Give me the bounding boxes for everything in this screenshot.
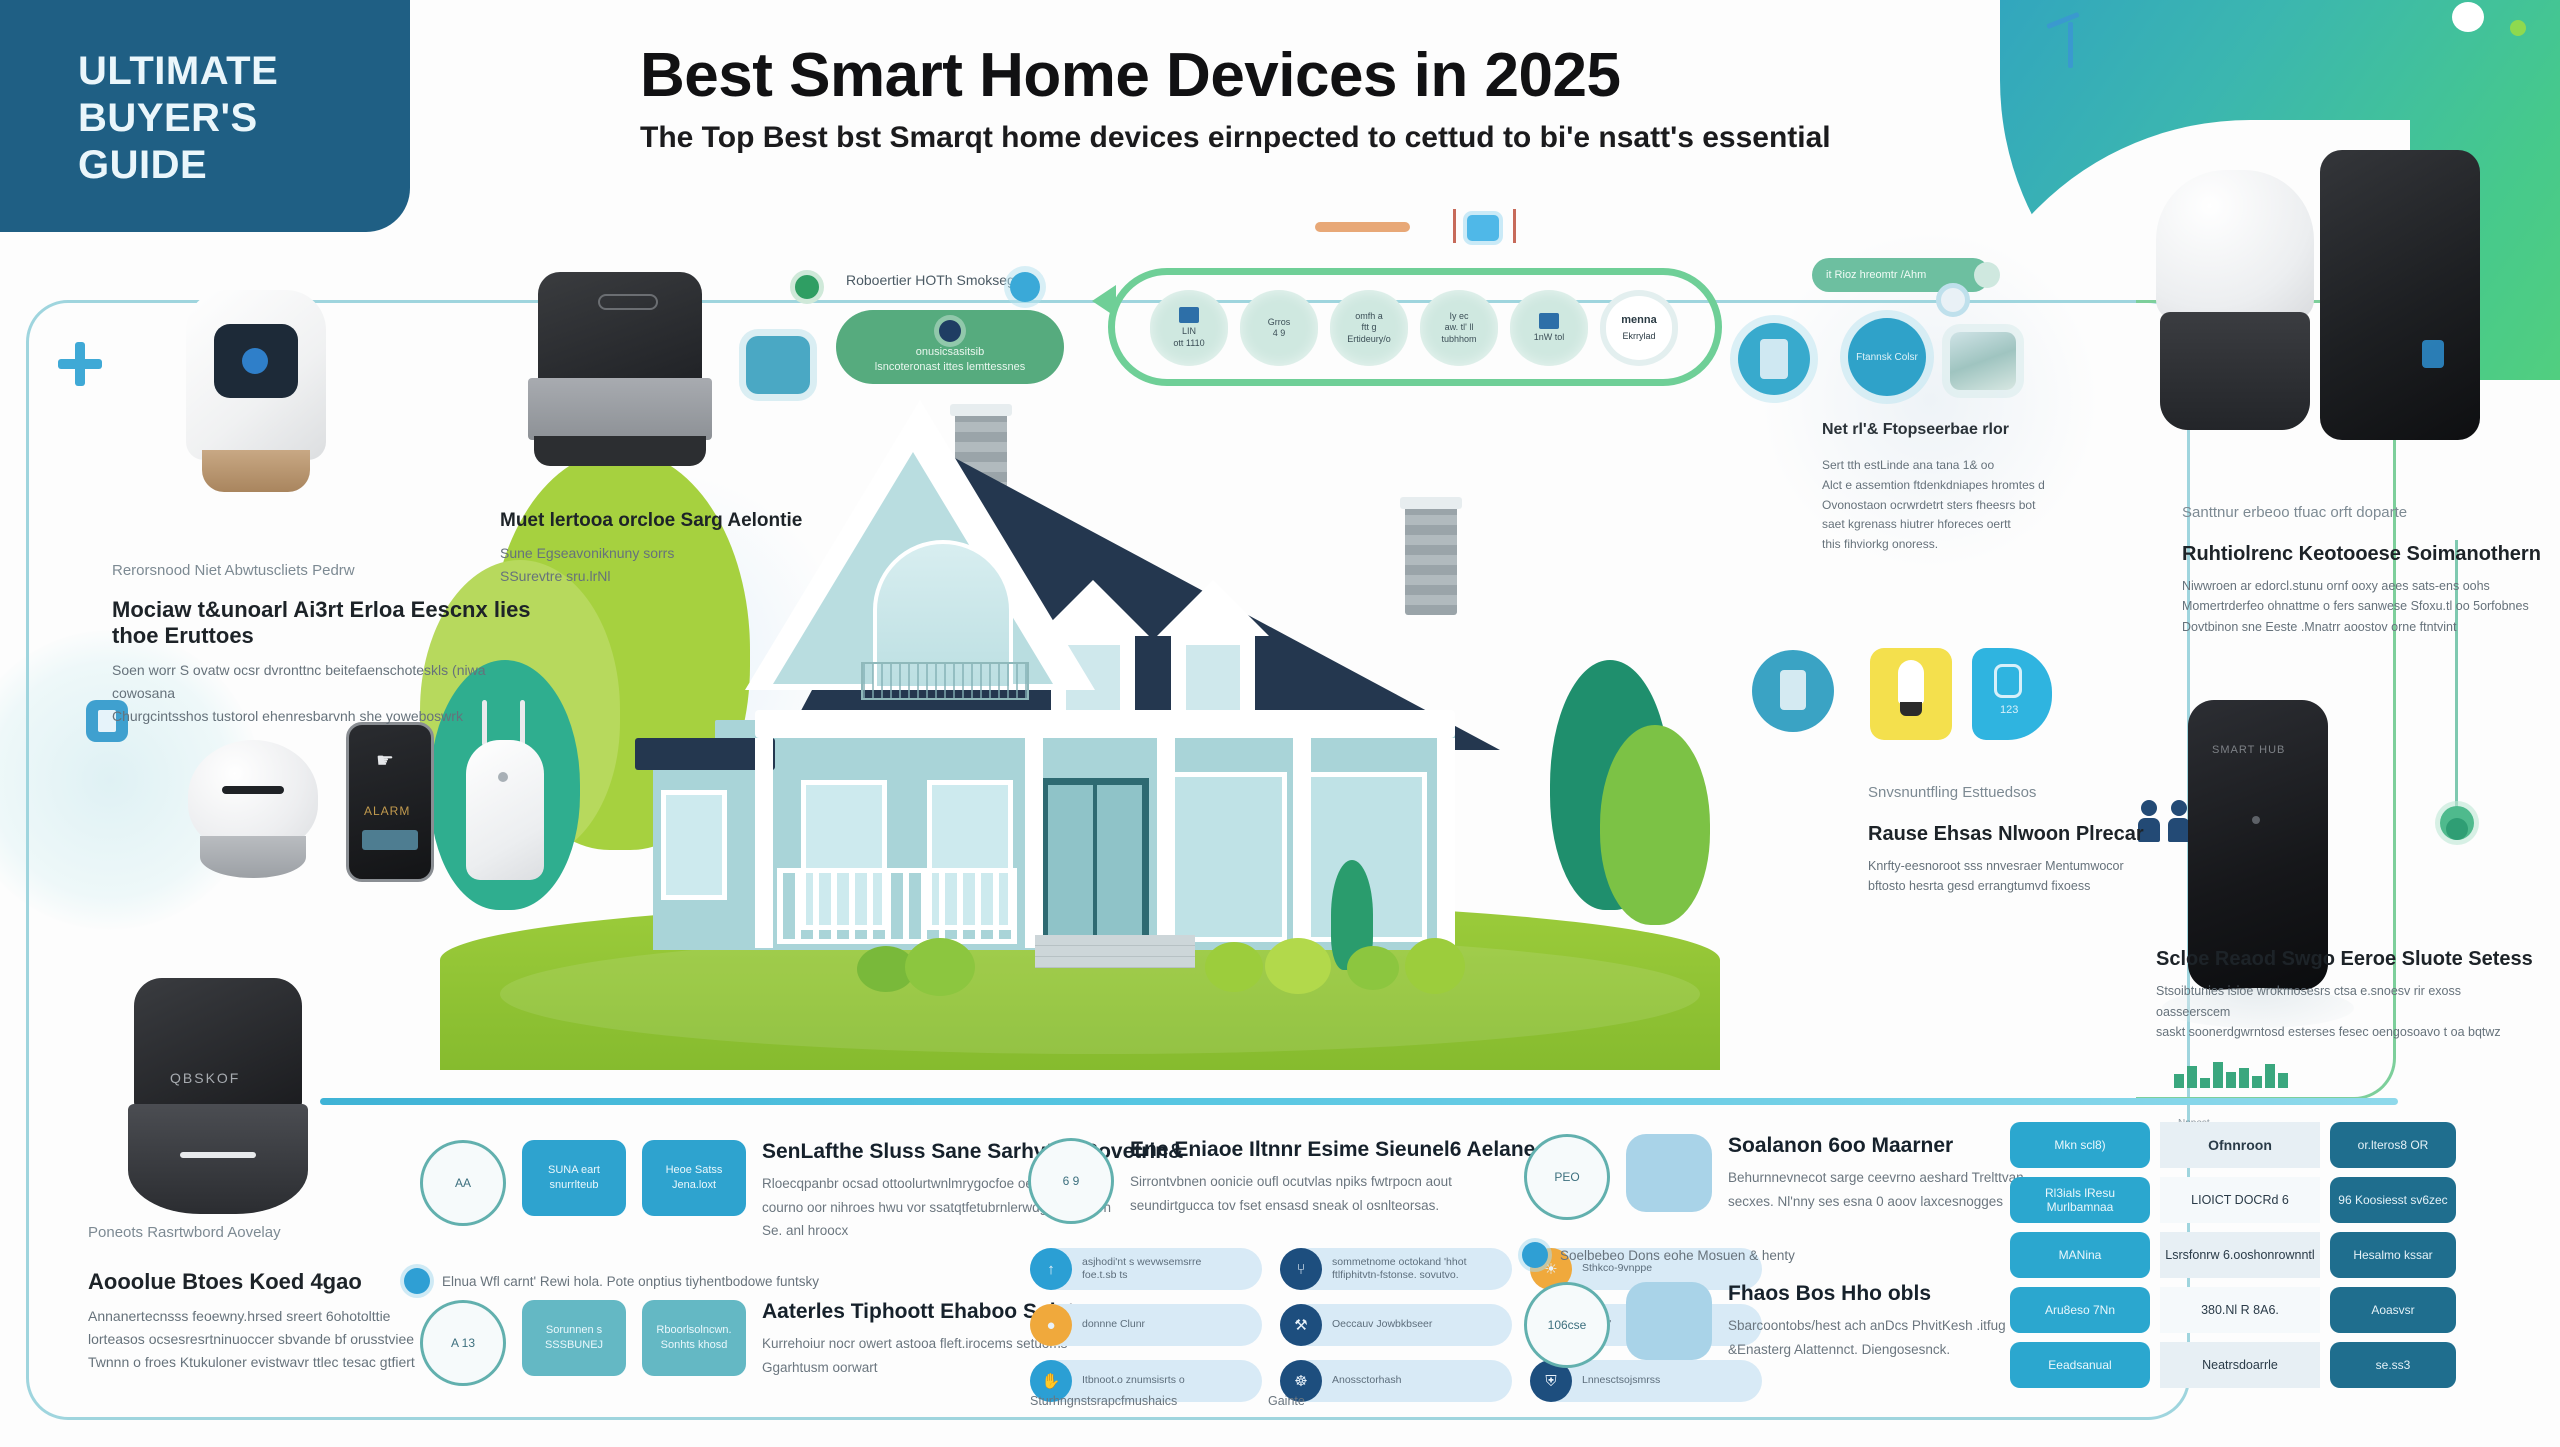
page-subtitle: The Top Best bst Smarqt home devices eir… xyxy=(640,121,1940,155)
comparison-table: Mkn scl8) Ofnnroon or.lteros8 OR Rl3ials… xyxy=(2010,1122,2456,1397)
decorative-green-dot xyxy=(2510,20,2526,36)
block-heading: Mociaw t&unoarl Ai3rt Erloa Eescnx lies … xyxy=(112,597,532,649)
feature-row: 6 9 Ene Eniaoe Iltnnr Esime Sieunel6 Ael… xyxy=(1028,1138,1548,1224)
feature-illustration-tile[interactable] xyxy=(1626,1282,1712,1360)
table-cell-left: Rl3ials lResu Murlbamnaa xyxy=(2010,1177,2150,1223)
window xyxy=(661,790,727,900)
icon-label: sommetnome octokand 'hhot ftlfiphitvtn-f… xyxy=(1332,1256,1467,1282)
smart-bulb-icon[interactable] xyxy=(1870,648,1952,740)
feature-tile[interactable]: Sorunnen s SSSBUNEJ xyxy=(522,1300,626,1376)
porch-railing xyxy=(777,868,1017,944)
porch-column xyxy=(1025,738,1043,948)
porch-glass xyxy=(1165,772,1287,942)
feature-text: Fhaos Bos Hho obls Sbarcoontobs/hest ach… xyxy=(1728,1282,2006,1361)
bush xyxy=(1205,942,1263,992)
pill-tail-icon xyxy=(1974,262,2000,288)
front-door xyxy=(1041,778,1149,946)
feature-row: 106cse Fhaos Bos Hho obls Sbarcoontobs/h… xyxy=(1524,1282,2024,1368)
antenna-icon: ⑂ xyxy=(1280,1248,1322,1290)
icon-grid-item[interactable]: ⑂ sommetnome octokand 'hhot ftlfiphitvtn… xyxy=(1280,1248,1512,1290)
block-body: Stsoibtunies isioe wrokmosesrs ctsa e.sn… xyxy=(2156,981,2536,1043)
scene-thumbnail xyxy=(1950,332,2016,390)
chimney-icon xyxy=(1405,505,1457,615)
badge-line-2: BUYER'S xyxy=(78,95,410,142)
block-body: Sune Egseavoniknuny sorrs SSurevtre sru.… xyxy=(500,542,830,588)
feature-body: Behurnnevnecot sarge ceevrno aeshard Tre… xyxy=(1728,1166,2024,1213)
skyline-ornament xyxy=(2174,1062,2288,1088)
table-cell-left: MANina xyxy=(2010,1232,2150,1278)
block-heading: Scloe Reaod Swgo Eeroe Sluote Setess xyxy=(2156,948,2536,971)
grid-caption-left: Sturhngnstsrapcfmushaics xyxy=(1030,1394,1177,1408)
product-security-camera xyxy=(176,290,336,505)
icon-grid-item[interactable]: ● donnne Clunr xyxy=(1030,1304,1262,1346)
wing-roof xyxy=(635,738,775,770)
table-cell-right: 96 Koosiesst sv6zec xyxy=(2330,1177,2456,1223)
product-control-panel: ☛ALARM xyxy=(346,722,434,882)
block-body: Knrfty-eesnoroot sss nnvesraer Mentumwoc… xyxy=(1868,856,2228,897)
home-security-label: Roboertier HOTh Smokseg xyxy=(846,272,1015,288)
note-line: Soelbebeo Dons eohe Mosuen & henty xyxy=(1522,1242,1795,1268)
table-cell-right: Aoasvsr xyxy=(2330,1287,2456,1333)
table-cell-middle: 380.Nl R 8A6. xyxy=(2160,1287,2320,1333)
text-block-right-4: Scloe Reaod Swgo Eeroe Sluote Setess Sts… xyxy=(2156,948,2536,1043)
table-cell-middle: Neatrsdoarrle xyxy=(2160,1342,2320,1388)
text-block-left-1: Rerorsnood Niet Abwtuscliets Pedrw Mocia… xyxy=(112,560,532,728)
panel-icon xyxy=(1179,307,1199,323)
tools-icon: ⚒ xyxy=(1280,1304,1322,1346)
product-smart-speaker-bottom: QBSKOF xyxy=(118,978,318,1223)
table-cell-left: Mkn scl8) xyxy=(2010,1122,2150,1168)
text-block-right-2: Santtnur erbeoo tfuac orft doparte Ruhti… xyxy=(2182,502,2542,637)
note-text: Elnua Wfl carnt' Rewi hola. Pote onptius… xyxy=(442,1274,819,1289)
icon-label: donnne Clunr xyxy=(1082,1318,1145,1331)
icon-label: Itbnoot.o znumsisrts o xyxy=(1082,1374,1185,1387)
header-titles: Best Smart Home Devices in 2025 The Top … xyxy=(640,40,1940,155)
feature-badge-icon: A 13 xyxy=(420,1300,506,1386)
block-heading: Muet lertooa orcloe Sarg Aelontie xyxy=(500,510,830,532)
table-row: Aru8eso 7Nn 380.Nl R 8A6. Aoasvsr xyxy=(2010,1287,2456,1333)
text-block-left-2: Muet lertooa orcloe Sarg Aelontie Sune E… xyxy=(500,510,830,588)
note-text: Soelbebeo Dons eohe Mosuen & henty xyxy=(1560,1248,1795,1263)
feature-heading: Fhaos Bos Hho obls xyxy=(1728,1282,2006,1306)
grid-caption-right: Gainte xyxy=(1268,1394,1305,1408)
porch-roof xyxy=(755,710,1455,738)
bullet-icon xyxy=(404,1268,430,1294)
block-heading: Rause Ehsas Nlwoon Plrecar xyxy=(1868,823,2228,846)
wifi-dot-icon xyxy=(1010,272,1040,302)
thermostat-icon: ↑ xyxy=(1030,1248,1072,1290)
text-block-right-1: Net rl'& Ftopseerbae rlor Sert tth estLi… xyxy=(1822,418,2152,555)
eyebrow-text: Snvsnuntfling Esttuedsos xyxy=(1868,782,2228,805)
feature-illustration-tile[interactable] xyxy=(1626,1134,1712,1212)
feature-row: A 13 Sorunnen s SSSBUNEJ Rboorlsolncwn. … xyxy=(420,1300,980,1386)
table-row: Rl3ials lResu Murlbamnaa LIOICT DOCRd 6 … xyxy=(2010,1177,2456,1223)
table-cell-right: se.ss3 xyxy=(2330,1342,2456,1388)
panel-icon xyxy=(1539,313,1559,329)
feature-tile[interactable]: SUNA eart snurrlteub xyxy=(522,1140,626,1216)
feature-badge-icon: 106cse xyxy=(1524,1282,1610,1368)
table-cell-middle: Ofnnroon xyxy=(2160,1122,2320,1168)
porch-column xyxy=(1293,738,1311,948)
table-cell-right: Hesalmo kssar xyxy=(2330,1232,2456,1278)
icon-label: Lnnesctsojsmrss xyxy=(1582,1374,1660,1387)
eyebrow-text: Rerorsnood Niet Abwtuscliets Pedrw xyxy=(112,560,532,583)
icon-label: Anossctorhash xyxy=(1332,1374,1401,1387)
product-smart-globe-speaker xyxy=(188,740,318,880)
bush xyxy=(905,938,975,996)
icon-label: Oeccauv Jowbkbseer xyxy=(1332,1318,1432,1331)
dormer-window xyxy=(1157,580,1269,720)
feature-heading: Soalanon 6oo Maarner xyxy=(1728,1134,2024,1158)
icon-grid-item[interactable]: ⚒ Oeccauv Jowbkbseer xyxy=(1280,1304,1512,1346)
feature-tile[interactable]: Heoe Satss Jena.loxt xyxy=(642,1140,746,1216)
bush xyxy=(1265,938,1331,994)
table-cell-left: Aru8eso 7Nn xyxy=(2010,1287,2150,1333)
feature-row: AA SUNA eart snurrlteub Heoe Satss Jena.… xyxy=(420,1140,980,1243)
ring-icon xyxy=(1936,283,1970,317)
feature-row: PEO Soalanon 6oo Maarner Behurnnevnecot … xyxy=(1524,1134,2024,1220)
feature-badge-icon: 6 9 xyxy=(1028,1138,1114,1224)
table-cell-middle: Lsrsfonrw 6.ooshonrownntl xyxy=(2160,1232,2320,1278)
leaf-badge-icon xyxy=(790,270,824,304)
ultimate-buyers-guide-badge: ULTIMATE BUYER'S GUIDE xyxy=(0,0,410,232)
loop-arrow-icon xyxy=(1092,285,1116,317)
product-black-speaker xyxy=(520,272,720,482)
feature-tile[interactable]: Rboorlsolncwn. Sonhts khosd xyxy=(642,1300,746,1376)
table-cell-right: or.lteros8 OR xyxy=(2330,1122,2456,1168)
product-smart-assistant-speaker xyxy=(2150,170,2320,440)
badge-line-1: ULTIMATE xyxy=(78,48,410,95)
orange-rule-ornament xyxy=(1315,222,1410,232)
eyebrow-text: Santtnur erbeoo tfuac orft doparte xyxy=(2182,502,2542,525)
porch-column xyxy=(1437,738,1455,948)
porch-column xyxy=(755,738,773,948)
section-divider xyxy=(320,1098,2398,1105)
bullet-icon xyxy=(1522,1242,1548,1268)
house-graphic xyxy=(605,390,1505,950)
entry-steps xyxy=(1035,935,1195,969)
smart-display-icon[interactable] xyxy=(1752,650,1834,732)
block-body: Sert tth estLinde ana tana 1& oo Alct e … xyxy=(1822,456,2152,555)
icon-grid-item[interactable]: ☸ Anossctorhash xyxy=(1280,1360,1512,1402)
page-title: Best Smart Home Devices in 2025 xyxy=(640,40,1940,111)
decorative-white-dot xyxy=(2452,2,2484,32)
block-body: Soen worr S ovatw ocsr dvronttnc beitefa… xyxy=(112,659,532,728)
plus-icon xyxy=(58,342,102,386)
block-heading: Ruhtiolrenc Keotooese Soimanothern xyxy=(2182,543,2542,566)
device-ornament xyxy=(1425,207,1545,247)
connector-node-inner xyxy=(2446,818,2468,840)
infographic-poster: ULTIMATE BUYER'S GUIDE Best Smart Home D… xyxy=(0,0,2560,1447)
badge-line-3: GUIDE xyxy=(78,142,410,189)
table-cell-left: Eeadsanual xyxy=(2010,1342,2150,1388)
smart-lock-icon[interactable]: 123 xyxy=(1972,648,2052,740)
table-row: Mkn scl8) Ofnnroon or.lteros8 OR xyxy=(2010,1122,2456,1168)
feature-badge-icon: PEO xyxy=(1524,1134,1610,1220)
feature-badge-icon: AA xyxy=(420,1140,506,1226)
icon-grid-item[interactable]: ↑ asjhodi'nt s wevwsemsrre foe.t.sb ts xyxy=(1030,1248,1262,1290)
feature-text: Soalanon 6oo Maarner Behurnnevnecot sarg… xyxy=(1728,1134,2024,1213)
balcony-railing xyxy=(861,662,1029,700)
table-row: Eeadsanual Neatrsdoarrle se.ss3 xyxy=(2010,1342,2456,1388)
icon-label: asjhodi'nt s wevwsemsrre foe.t.sb ts xyxy=(1082,1256,1201,1282)
block-body: Niwwroen ar edorcl.stunu ornf ooxy aees … xyxy=(2182,576,2542,638)
text-block-right-3: Snvsnuntfling Esttuedsos Rause Ehsas Nlw… xyxy=(1868,782,2228,897)
product-tower-speaker xyxy=(2320,150,2480,440)
camera-bubble-icon[interactable]: Ftannsk Colsr xyxy=(1848,318,1926,396)
bush xyxy=(1405,938,1465,994)
bulb-icon: ● xyxy=(1030,1304,1072,1346)
bush xyxy=(1347,946,1399,990)
eyebrow-text: Net rl'& Ftopseerbae rlor xyxy=(1822,418,2152,442)
antenna-icon xyxy=(2042,14,2102,68)
tablet-bubble-icon[interactable] xyxy=(1738,323,1810,395)
table-cell-middle: LIOICT DOCRd 6 xyxy=(2160,1177,2320,1223)
tree-icon xyxy=(1600,725,1710,925)
porch-column xyxy=(1157,738,1175,948)
note-line: Elnua Wfl carnt' Rewi hola. Pote onptius… xyxy=(404,1268,819,1294)
feature-body: Sbarcoontobs/hest ach anDcs PhvitKesh .i… xyxy=(1728,1314,2006,1361)
table-row: MANina Lsrsfonrw 6.ooshonrownntl Hesalmo… xyxy=(2010,1232,2456,1278)
